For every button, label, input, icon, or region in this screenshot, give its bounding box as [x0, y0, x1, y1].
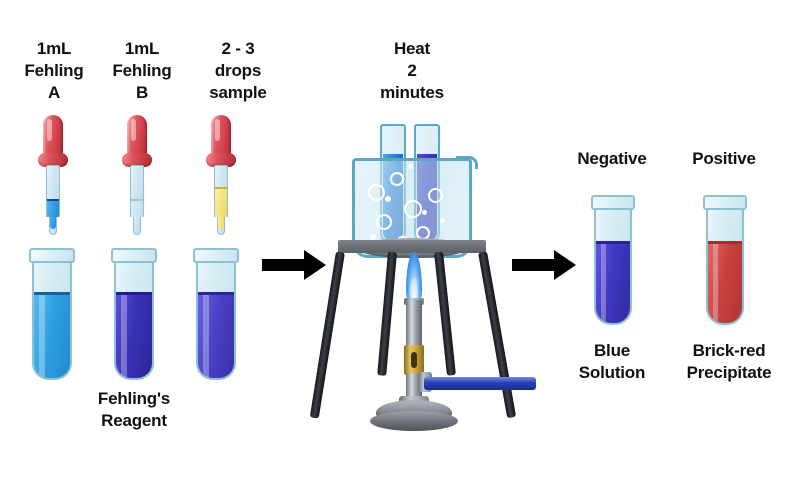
tube-liquid	[596, 244, 630, 323]
dropper-fluid-blue	[47, 201, 58, 217]
arrow-to-heating-step	[262, 250, 326, 280]
dropper-fluid-colorless	[131, 201, 142, 217]
dropper-tip-fluid	[218, 217, 223, 229]
arrow-to-results	[512, 250, 576, 280]
tube-liquid	[34, 295, 70, 378]
dropper-fehling-a	[36, 115, 70, 235]
dropper-tip-fluid	[134, 217, 139, 229]
tube-liquid	[198, 295, 234, 378]
tube-rim	[591, 195, 635, 210]
step-label-fehling-b: 1mL Fehling B	[92, 38, 192, 103]
tripod-leg	[377, 252, 397, 376]
tube-liquid	[116, 295, 152, 378]
test-tube-negative-result	[594, 195, 632, 325]
tripod-leg	[434, 252, 456, 376]
arrow-shaft	[512, 259, 556, 271]
burner-air-slot	[411, 352, 417, 368]
gas-hose	[424, 377, 536, 390]
beaker-spout	[456, 156, 478, 169]
tripod-platform	[338, 240, 486, 253]
test-tube-fehling-a	[32, 248, 72, 380]
step-label-fehling-a: 1mL Fehling A	[4, 38, 104, 103]
tube-liquid	[708, 244, 742, 323]
dropper-tip-fluid	[50, 217, 55, 229]
tube-rim	[193, 248, 239, 263]
dropper-fehling-b	[120, 115, 154, 235]
arrow-head-icon	[304, 250, 326, 280]
result-caption-negative: Blue Solution	[556, 340, 668, 384]
bubble-icon	[422, 210, 427, 215]
test-tube-fehlings-reagent	[114, 248, 154, 380]
bubble-icon	[404, 200, 422, 218]
bubble-icon	[390, 172, 404, 186]
test-tube-sample-mixed	[196, 248, 236, 380]
tripod-leg	[478, 251, 516, 418]
bubble-icon	[428, 188, 443, 203]
bubble-icon	[385, 196, 391, 202]
tube-rim	[111, 248, 157, 263]
bubble-icon	[408, 164, 413, 169]
fehlings-test-diagram: 1mL Fehling A 1mL Fehling B 2 - 3 drops …	[0, 0, 800, 500]
bubble-icon	[440, 218, 445, 223]
result-heading-negative: Negative	[556, 148, 668, 170]
tube-rim	[29, 248, 75, 263]
fehlings-reagent-caption: Fehling's Reagent	[72, 388, 196, 432]
arrow-head-icon	[554, 250, 576, 280]
burner-base-rim	[370, 411, 458, 431]
arrow-shaft	[262, 259, 306, 271]
test-tube-positive-result	[706, 195, 744, 325]
dropper-sample	[204, 115, 238, 235]
bubble-icon	[368, 184, 385, 201]
step-label-sample: 2 - 3 drops sample	[183, 38, 293, 103]
result-caption-positive: Brick-red Precipitate	[664, 340, 794, 384]
heat-label: Heat 2 minutes	[357, 38, 467, 103]
tube-rim	[703, 195, 747, 210]
dropper-fluid-yellow	[215, 189, 226, 217]
result-heading-positive: Positive	[668, 148, 780, 170]
bubble-icon	[376, 214, 392, 230]
